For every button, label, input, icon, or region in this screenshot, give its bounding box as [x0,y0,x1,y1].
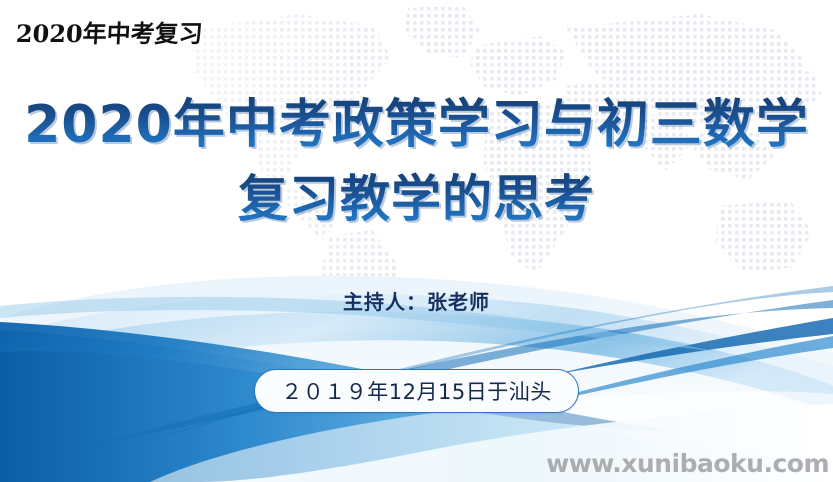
title-line-2: 复习教学的思考 [0,162,833,236]
date-pill-container: ２０１９年12月15日于汕头 [0,369,833,413]
page-title: 2020年中考政策学习与初三数学 复习教学的思考 [0,88,833,236]
corner-label: 2020年中考复习 [15,14,204,49]
title-line-1: 2020年中考政策学习与初三数学 [0,88,833,162]
date-badge: ２０１９年12月15日于汕头 [254,369,578,413]
presentation-title-slide: 2020年中考复习 2020年中考政策学习与初三数学 复习教学的思考 主持人：张… [0,0,833,482]
presenter-label: 主持人：张老师 [0,286,833,315]
watermark-text: www.xunibaoku.com [546,449,829,478]
